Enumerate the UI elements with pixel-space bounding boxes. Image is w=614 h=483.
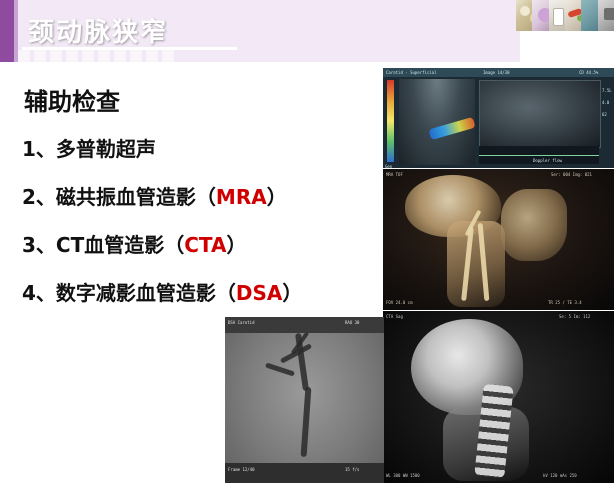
mra-label-top-right: Ser: 004 Img: 021 [551, 172, 592, 177]
dsa-footer-bar [225, 463, 384, 483]
list-item-2-text-end: ） [267, 185, 287, 209]
mra-neck-volume [447, 221, 505, 307]
ct-label-bottom-left: WL 300 WW 1500 [386, 473, 420, 478]
ultrasound-sector-view [399, 79, 475, 165]
dsa-label-header-right: RAO 30 [345, 320, 359, 325]
ultrasound-label-gain: 62 [602, 112, 607, 117]
header-thumbnail-strip [516, 0, 614, 62]
ultrasound-color-scale [387, 80, 394, 162]
dsa-label-footer-left: Frame 12/40 [228, 467, 255, 472]
list-item-4-highlight: DSA [236, 281, 282, 305]
ultrasound-label-depth: 4.0 [602, 100, 609, 105]
ultrasound-image: Carotid - Superficial Image 14/30 CD 44.… [383, 68, 614, 168]
list-item-3-highlight: CTA [184, 233, 226, 257]
ultrasound-color-doppler-flow [428, 117, 475, 140]
list-item-2-text: 2、磁共振血管造影（ [22, 185, 216, 209]
thumbnail-purple-flower [532, 0, 548, 31]
title-accent-stripe [0, 0, 14, 62]
ultrasound-label-caption: Doppler flow [533, 158, 562, 163]
mra-label-top-left: MRA TOF [386, 172, 403, 177]
ultrasound-label-top-left: Carotid - Superficial [386, 70, 437, 75]
thumbnail-teal-block [581, 0, 597, 31]
mra-mandible [501, 189, 567, 261]
dsa-label-header-left: DSA Carotid [228, 320, 255, 325]
slide-canvas: 颈动脉狭窄 辅助检查 1、多普勒超声 [0, 0, 614, 483]
thumbnail-capsules [565, 0, 581, 31]
title-underline [22, 47, 237, 50]
list-item-2-highlight: MRA [216, 185, 267, 209]
thumbnail-flowers [516, 0, 532, 31]
list-item-4: 4、数字减影血管造影（DSA） [22, 277, 382, 306]
mra-label-bottom-right: TR 25 / TE 3.4 [548, 300, 582, 305]
dsa-label-footer-right: 15 f/s [345, 467, 359, 472]
list-item-2: 2、磁共振血管造影（MRA） [22, 181, 382, 210]
mra-label-bottom-left: FOV 24.0 cm [386, 300, 413, 305]
list-item-4-text: 4、数字减影血管造影（ [22, 281, 236, 305]
list-item-3: 3、CT血管造影（CTA） [22, 229, 382, 258]
page-title: 颈动脉狭窄 [28, 12, 168, 49]
list-item-3-text-end: ） [227, 233, 247, 257]
ultrasound-bmode-view [479, 80, 601, 148]
list-item-3-text: 3、CT血管造影（ [22, 233, 184, 257]
ct-label-top-left: CTA Sag [386, 314, 403, 319]
list-item-1: 1、多普勒超声 [22, 133, 382, 162]
content-text-block: 辅助检查 1、多普勒超声 2、磁共振血管造影（MRA） 3、CT血管造影（CTA… [22, 82, 382, 325]
title-band: 颈动脉狭窄 [0, 0, 614, 62]
dsa-image: DSA Carotid RAO 30 Frame 12/40 15 f/s [225, 317, 384, 483]
ultrasound-label-top-right: CD 44.5% [579, 70, 598, 75]
ct-label-top-right: Se: 5 Im: 112 [559, 314, 590, 319]
thumbnail-device [598, 0, 614, 31]
ultrasound-label-image-index: Image 14/30 [483, 70, 510, 75]
ct-label-bottom-right: kV 120 mAs 250 [543, 473, 577, 478]
ultrasound-label-freq: 7.5L [602, 88, 612, 93]
ct-image: CTA Sag Se: 5 Im: 112 WL 300 WW 1500 kV … [383, 311, 614, 483]
thumbnail-pills-bottle [549, 0, 565, 31]
list-item-4-text-end: ） [282, 281, 302, 305]
ultrasound-label-preset: Gen [385, 164, 392, 168]
mra-image: MRA TOF Ser: 004 Img: 021 FOV 24.0 cm TR… [383, 169, 614, 310]
title-checker-decoration [18, 50, 258, 62]
list-item-1-text: 1、多普勒超声 [22, 137, 156, 161]
section-heading: 辅助检查 [24, 82, 382, 117]
